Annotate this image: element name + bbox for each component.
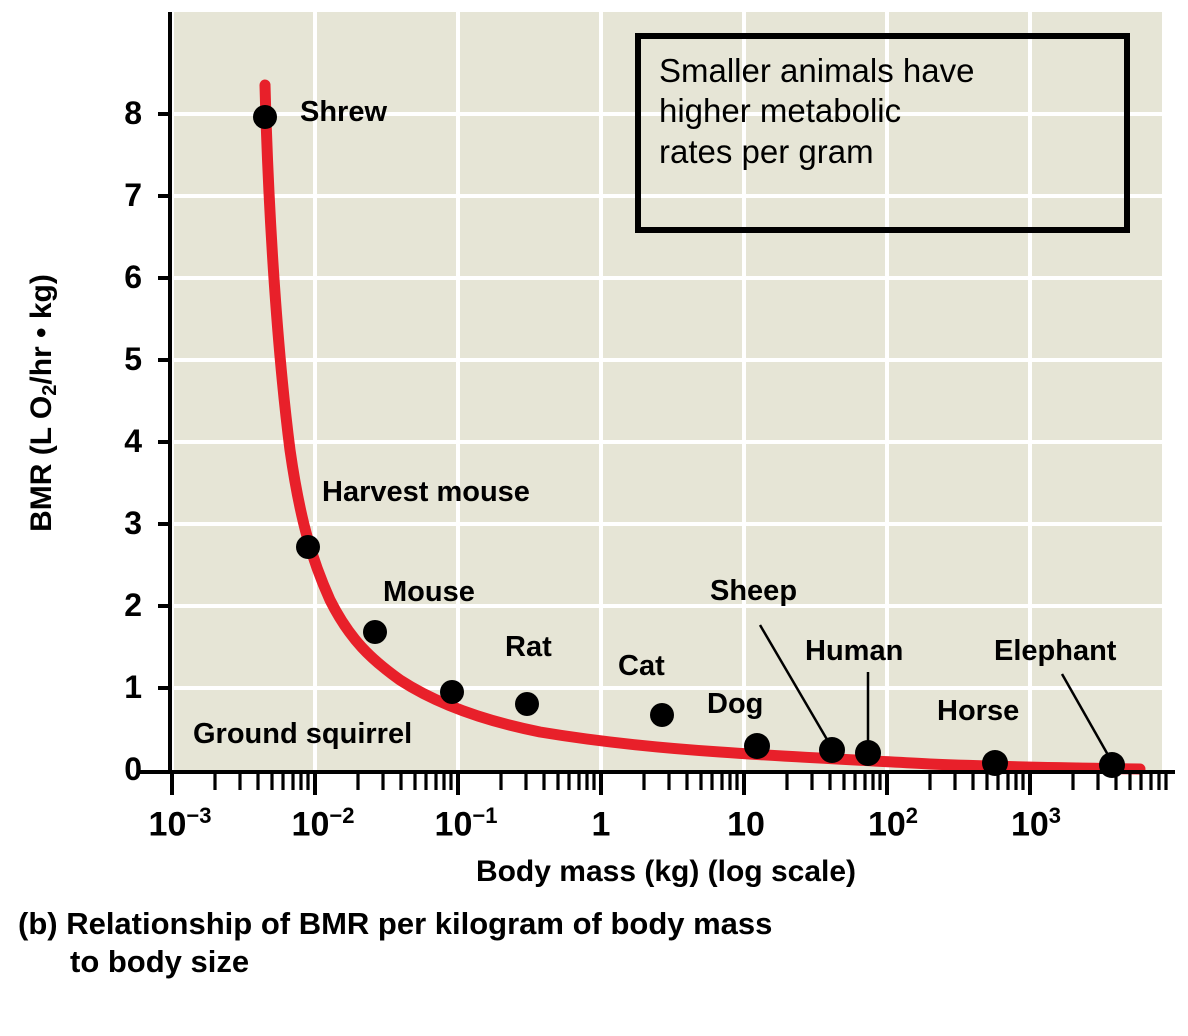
- x-tick-exp: 2: [906, 803, 918, 828]
- data-point-harvest-mouse: [296, 535, 320, 559]
- point-label-mouse: Mouse: [383, 578, 475, 607]
- x-tick-base: 10: [1011, 805, 1049, 843]
- x-tick-base: 10: [292, 805, 330, 843]
- x-axis-minor-ticks: [215, 772, 1166, 790]
- x-tick-label-1e-2: 10−2: [292, 805, 355, 841]
- point-label-dog: Dog: [707, 690, 763, 719]
- callout-box: Smaller animals have higher metabolic ra…: [635, 33, 1130, 233]
- x-tick-base: 10: [149, 805, 187, 843]
- x-tick-exp: −3: [186, 803, 211, 828]
- x-tick-exp: −2: [329, 803, 354, 828]
- y-tick-label-7: 7: [96, 179, 142, 211]
- data-point-ground-squirrel: [440, 680, 464, 704]
- x-tick-label-1e-3: 10−3: [149, 805, 212, 841]
- point-label-rat: Rat: [505, 633, 552, 662]
- data-point-shrew: [253, 105, 277, 129]
- y-axis-ticks: [152, 114, 170, 772]
- x-tick-label-1e2: 102: [868, 805, 918, 841]
- x-tick-base: 10: [868, 805, 906, 843]
- y-tick-label-5: 5: [96, 343, 142, 375]
- point-label-ground-squirrel: Ground squirrel: [193, 720, 412, 749]
- point-label-shrew: Shrew: [300, 98, 387, 127]
- figure-caption: (b) Relationship of BMR per kilogram of …: [18, 905, 1118, 981]
- y-tick-label-4: 4: [96, 425, 142, 457]
- callout-line-2: higher metabolic: [659, 91, 1106, 131]
- data-point-sheep: [819, 737, 845, 763]
- x-tick-base: 1: [592, 805, 611, 843]
- x-axis-title: Body mass (kg) (log scale): [170, 855, 1162, 889]
- x-tick-label-1: 1: [592, 805, 611, 841]
- y-tick-label-3: 3: [96, 507, 142, 539]
- x-tick-exp: −1: [472, 803, 497, 828]
- figure-panel-b: 8 7 6 5 4 3 2 1 0 10−3 10−2 10−1 1 10 10…: [0, 0, 1188, 1036]
- y-axis-title: BMR (L O2/hr • kg): [25, 173, 59, 633]
- data-point-elephant: [1099, 752, 1125, 778]
- y-tick-label-8: 8: [96, 97, 142, 129]
- data-point-mouse: [363, 620, 387, 644]
- caption-line-2: to body size: [18, 943, 1118, 981]
- x-tick-base: 10: [435, 805, 473, 843]
- point-label-human: Human: [805, 637, 903, 666]
- x-tick-exp: 3: [1049, 803, 1061, 828]
- point-label-sheep: Sheep: [710, 577, 797, 606]
- x-tick-label-1e3: 103: [1011, 805, 1061, 841]
- point-label-horse: Horse: [937, 697, 1019, 726]
- y-tick-label-2: 2: [96, 589, 142, 621]
- point-label-elephant: Elephant: [994, 637, 1116, 666]
- x-tick-label-1e-1: 10−1: [435, 805, 498, 841]
- caption-line-1: (b) Relationship of BMR per kilogram of …: [18, 906, 772, 941]
- y-tick-label-0: 0: [96, 753, 142, 785]
- data-point-rat: [515, 692, 539, 716]
- point-label-cat: Cat: [618, 652, 665, 681]
- point-label-harvest-mouse: Harvest mouse: [322, 478, 530, 507]
- y-axis-title-main: BMR (L O: [25, 396, 58, 532]
- y-axis-title-tail: /hr • kg): [25, 274, 58, 385]
- callout-line-3: rates per gram: [659, 132, 1106, 172]
- callout-line-1: Smaller animals have: [659, 51, 1106, 91]
- y-axis-title-subscript: 2: [39, 385, 61, 396]
- data-point-dog: [744, 733, 770, 759]
- y-tick-label-1: 1: [96, 671, 142, 703]
- x-tick-label-10: 10: [727, 805, 765, 841]
- x-tick-base: 10: [727, 805, 765, 843]
- data-point-cat: [650, 703, 674, 727]
- y-tick-label-6: 6: [96, 261, 142, 293]
